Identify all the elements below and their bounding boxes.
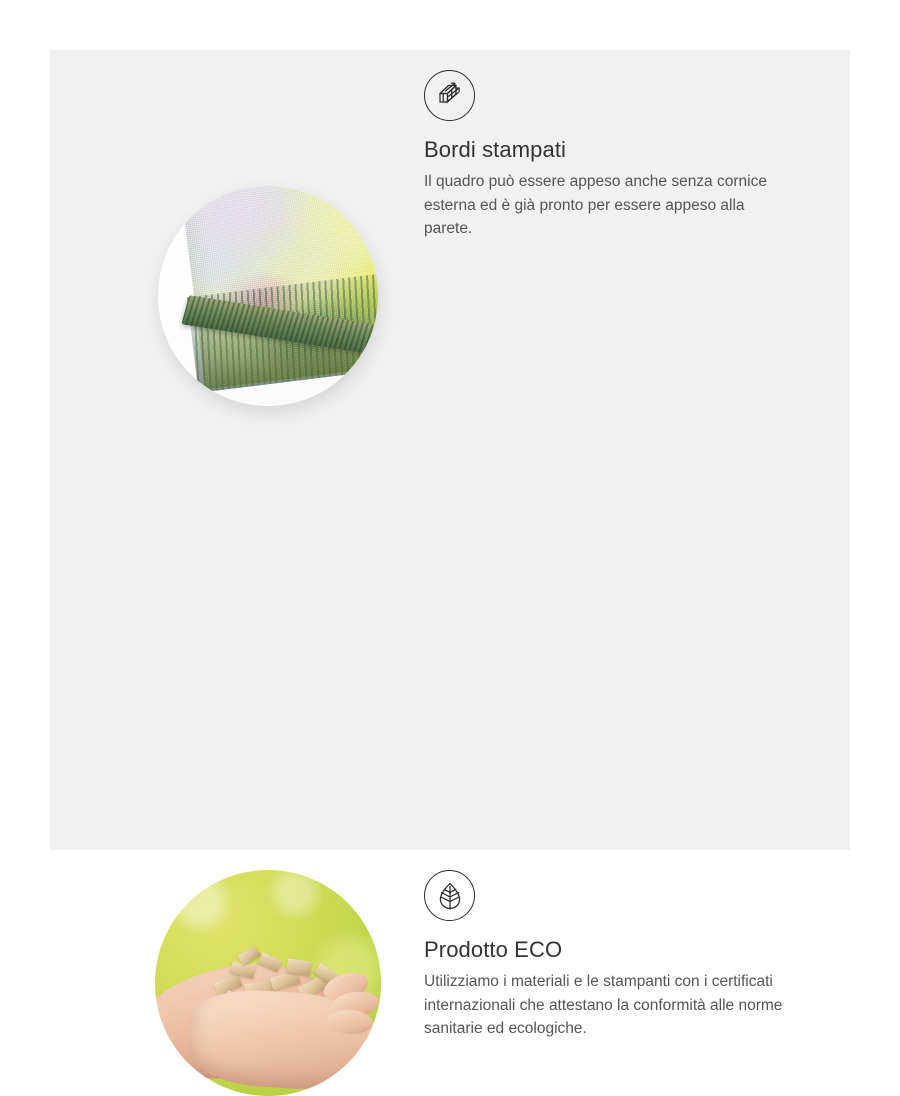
- printed-edges-icon: [424, 70, 475, 121]
- feature-1-text-column: Bordi stampati Il quadro può essere appe…: [424, 70, 804, 241]
- wood-chip: [257, 952, 282, 972]
- feature-2-title: Prodotto ECO: [424, 937, 804, 963]
- leaf-icon: [424, 870, 475, 921]
- feature-1-description: Il quadro può essere appeso anche senza …: [424, 170, 790, 241]
- feature-2-description: Utilizziamo i materiali e le stampanti c…: [424, 970, 790, 1041]
- canvas-photo-clip: [158, 186, 378, 406]
- feature-prodotto-eco: Prodotto ECO Utilizziamo i materiali e l…: [50, 450, 850, 850]
- feature-2-text-column: Prodotto ECO Utilizziamo i materiali e l…: [424, 870, 804, 1041]
- canvas-corner-photo: [150, 180, 386, 416]
- product-feature-banner: Bordi stampati Il quadro può essere appe…: [0, 0, 900, 900]
- feature-bordi-stampati: Bordi stampati Il quadro può essere appe…: [50, 50, 850, 450]
- wood-chips-hands-photo: [155, 870, 381, 1096]
- content-panel: Bordi stampati Il quadro può essere appe…: [50, 50, 850, 850]
- feature-1-title: Bordi stampati: [424, 137, 804, 163]
- eco-photo-clip: [155, 870, 381, 1096]
